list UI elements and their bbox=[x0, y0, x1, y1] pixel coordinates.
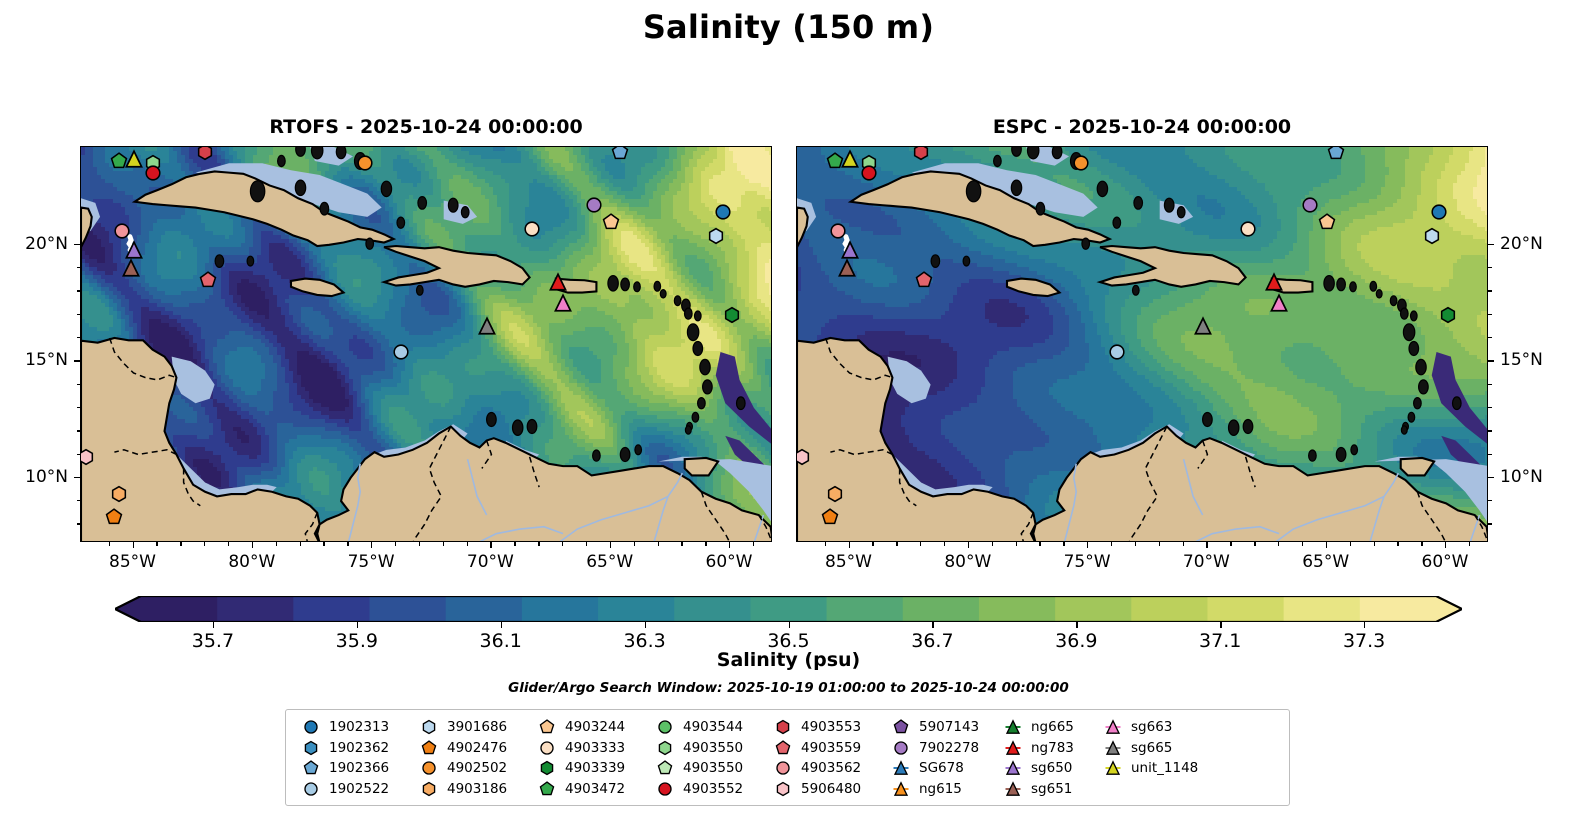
xtick bbox=[1445, 542, 1446, 548]
legend-item-label: 4903472 bbox=[564, 781, 625, 797]
xtick bbox=[1087, 542, 1088, 548]
xtick bbox=[1206, 542, 1207, 548]
legend-item-4903550[interactable]: 4903550 bbox=[648, 738, 766, 759]
glider-track-marker-icon bbox=[1096, 758, 1130, 778]
ytick bbox=[74, 360, 80, 361]
map-marker-1902522[interactable] bbox=[1108, 344, 1125, 361]
argo-float-marker-icon bbox=[530, 717, 564, 737]
argo-float-marker-icon bbox=[884, 717, 918, 737]
argo-float-marker-icon bbox=[884, 738, 918, 758]
argo-float-marker-icon bbox=[530, 779, 564, 799]
ytick-minor bbox=[1488, 523, 1492, 524]
colorbar-tick bbox=[1076, 622, 1077, 628]
map-marker-4903559[interactable] bbox=[199, 271, 216, 288]
xtick bbox=[729, 542, 730, 548]
map-marker-ng783[interactable] bbox=[1265, 273, 1284, 292]
legend-item-5907143[interactable]: 5907143 bbox=[884, 717, 996, 738]
legend-item-label: 7902278 bbox=[918, 740, 979, 756]
legend-item-sg651[interactable]: sg651 bbox=[996, 779, 1096, 800]
argo-float-marker-icon bbox=[412, 779, 446, 799]
legend-item-label: SG678 bbox=[918, 760, 964, 776]
legend-item-label: sg665 bbox=[1130, 740, 1172, 756]
legend-item-label: 3901686 bbox=[446, 719, 507, 735]
ytick-minor bbox=[1488, 500, 1492, 501]
legend-item-4903472[interactable]: 4903472 bbox=[530, 779, 648, 800]
legend-item-5906480[interactable]: 5906480 bbox=[766, 779, 884, 800]
map-marker-unit_1148[interactable] bbox=[124, 149, 143, 168]
ytick-minor bbox=[77, 500, 81, 501]
map-marker-unit_1148[interactable] bbox=[840, 149, 859, 168]
argo-float-marker-icon bbox=[530, 758, 564, 778]
map-marker-4902502[interactable] bbox=[1073, 155, 1090, 172]
ytick-minor bbox=[77, 314, 81, 315]
legend-item-label: 5906480 bbox=[800, 781, 861, 797]
legend-item-1902522[interactable]: 1902522 bbox=[294, 779, 412, 800]
xtick-minor bbox=[634, 542, 635, 546]
map-marker-sg650[interactable] bbox=[840, 240, 859, 259]
legend-item-label: sg651 bbox=[1030, 781, 1072, 797]
xtick-label: 70°W bbox=[1183, 552, 1230, 572]
map-marker-4903553[interactable] bbox=[913, 146, 930, 160]
ytick-minor bbox=[77, 337, 81, 338]
argo-float-marker-icon bbox=[294, 717, 328, 737]
map-marker-4903339[interactable] bbox=[724, 306, 741, 323]
glider-track-marker-icon bbox=[996, 758, 1030, 778]
ytick-label: 10°N bbox=[1500, 467, 1543, 487]
xtick bbox=[968, 542, 969, 548]
argo-float-marker-icon bbox=[648, 758, 682, 778]
xtick bbox=[1326, 542, 1327, 548]
xtick-label: 65°W bbox=[1302, 552, 1349, 572]
argo-float-marker-icon bbox=[294, 738, 328, 758]
xtick-minor bbox=[1063, 542, 1064, 546]
xtick-minor bbox=[753, 542, 754, 546]
ytick-minor bbox=[1488, 384, 1492, 385]
xtick-minor bbox=[514, 542, 515, 546]
map-marker-4903244[interactable] bbox=[1318, 213, 1335, 230]
xtick-minor bbox=[276, 542, 277, 546]
xtick-label: 80°W bbox=[944, 552, 991, 572]
argo-float-marker-icon bbox=[766, 779, 800, 799]
map-marker-4903559[interactable] bbox=[915, 271, 932, 288]
xtick-minor bbox=[538, 542, 539, 546]
legend-item-label: 4903333 bbox=[564, 740, 625, 756]
legend-item-7902278[interactable]: 7902278 bbox=[884, 738, 996, 759]
ytick-minor bbox=[77, 523, 81, 524]
glider-track-marker-icon bbox=[996, 779, 1030, 799]
legend-item-unit_1148[interactable]: unit_1148 bbox=[1096, 758, 1206, 779]
legend-item-label: 4903186 bbox=[446, 781, 507, 797]
legend-item-label: 1902522 bbox=[328, 781, 389, 797]
legend-item-label: 4902502 bbox=[446, 760, 507, 776]
map-marker-5906480[interactable] bbox=[796, 448, 810, 465]
legend-column-7: ng665ng783sg650sg651 bbox=[996, 717, 1096, 799]
xtick-label: 75°W bbox=[1064, 552, 1111, 572]
map-marker-1902313[interactable] bbox=[714, 204, 731, 221]
legend-item-label: 4903544 bbox=[682, 719, 743, 735]
map-marker-3901686[interactable] bbox=[1423, 227, 1440, 244]
map-marker-ng783[interactable] bbox=[549, 273, 568, 292]
map-marker-4903552[interactable] bbox=[860, 164, 877, 181]
legend-item-4903244[interactable]: 4903244 bbox=[530, 717, 648, 738]
map-marker-4902476[interactable] bbox=[106, 509, 123, 526]
xtick-minor bbox=[1350, 542, 1351, 546]
xtick-label: 70°W bbox=[467, 552, 514, 572]
ytick-minor bbox=[1488, 267, 1492, 268]
xtick-minor bbox=[443, 542, 444, 546]
legend-item-label: 4903562 bbox=[800, 760, 861, 776]
legend-item-label: 4903552 bbox=[682, 781, 743, 797]
map-marker-sg663[interactable] bbox=[1270, 294, 1289, 313]
xtick bbox=[610, 542, 611, 548]
legend-item-label: unit_1148 bbox=[1130, 760, 1198, 776]
colorbar-tick bbox=[645, 622, 646, 628]
legend-item-label: sg650 bbox=[1030, 760, 1072, 776]
xtick-minor bbox=[1039, 542, 1040, 546]
map-marker-4902502[interactable] bbox=[357, 155, 374, 172]
legend-item-4903559[interactable]: 4903559 bbox=[766, 738, 884, 759]
map-marker-sg665[interactable] bbox=[477, 317, 496, 336]
legend-item-4903544[interactable]: 4903544 bbox=[648, 717, 766, 738]
legend-item-label: 4903550 bbox=[682, 740, 743, 756]
xtick-minor bbox=[1421, 542, 1422, 546]
xtick-minor bbox=[1469, 542, 1470, 546]
legend-column-3: 4903244490333349033394903472 bbox=[530, 717, 648, 799]
legend-item-1902313[interactable]: 1902313 bbox=[294, 717, 412, 738]
ytick bbox=[74, 244, 80, 245]
legend-item-4903550[interactable]: 4903550 bbox=[648, 758, 766, 779]
ytick-label: 10°N bbox=[25, 467, 68, 487]
colorbar-tick bbox=[789, 622, 790, 628]
map-marker-4903562[interactable] bbox=[829, 222, 846, 239]
glider-track-marker-icon bbox=[884, 779, 918, 799]
xtick-label: 75°W bbox=[348, 552, 395, 572]
legend-item-label: ng615 bbox=[918, 781, 962, 797]
xtick-minor bbox=[156, 542, 157, 546]
legend-item-4902502[interactable]: 4902502 bbox=[412, 758, 530, 779]
legend-item-label: 5907143 bbox=[918, 719, 979, 735]
map-marker-4903186[interactable] bbox=[827, 486, 844, 503]
xtick-minor bbox=[681, 542, 682, 546]
xtick-label: 80°W bbox=[228, 552, 275, 572]
xtick-minor bbox=[586, 542, 587, 546]
xtick-minor bbox=[1374, 542, 1375, 546]
ytick-minor bbox=[1488, 337, 1492, 338]
colorbar-tick bbox=[1220, 622, 1221, 628]
xtick-minor bbox=[395, 542, 396, 546]
map-marker-1902522[interactable] bbox=[392, 344, 409, 361]
argo-float-marker-icon bbox=[766, 758, 800, 778]
colorbar-tick bbox=[1364, 622, 1365, 628]
ytick-minor bbox=[1488, 314, 1492, 315]
legend-item-1902366[interactable]: 1902366 bbox=[294, 758, 412, 779]
xtick-minor bbox=[1230, 542, 1231, 546]
legend-item-4903333[interactable]: 4903333 bbox=[530, 738, 648, 759]
ytick-minor bbox=[1488, 430, 1492, 431]
legend-column-5: 4903553490355949035625906480 bbox=[766, 717, 884, 799]
xtick-minor bbox=[1397, 542, 1398, 546]
legend-item-label: ng665 bbox=[1030, 719, 1074, 735]
legend-item-4902476[interactable]: 4902476 bbox=[412, 738, 530, 759]
xtick-label: 65°W bbox=[586, 552, 633, 572]
xtick-minor bbox=[1254, 542, 1255, 546]
legend-item-label: 1902313 bbox=[328, 719, 389, 735]
map-marker-sg663[interactable] bbox=[554, 294, 573, 313]
legend-item-4903552[interactable]: 4903552 bbox=[648, 779, 766, 800]
legend-item-ng615[interactable]: ng615 bbox=[884, 779, 996, 800]
ytick-minor bbox=[1488, 407, 1492, 408]
map-marker-4902476[interactable] bbox=[822, 509, 839, 526]
legend-column-8: sg663sg665unit_1148 bbox=[1096, 717, 1206, 799]
xtick-label: 60°W bbox=[1422, 552, 1469, 572]
legend-item-label: 4903553 bbox=[800, 719, 861, 735]
xtick-label: 60°W bbox=[706, 552, 753, 572]
xtick-minor bbox=[228, 542, 229, 546]
map-marker-4903186[interactable] bbox=[111, 486, 128, 503]
map-canvas-espc[interactable] bbox=[796, 146, 1488, 542]
legend-item-label: 4903550 bbox=[682, 760, 743, 776]
ytick bbox=[1488, 244, 1494, 245]
colorbar-tick bbox=[357, 622, 358, 628]
legend-item-label: 4903559 bbox=[800, 740, 861, 756]
map-marker-sg650[interactable] bbox=[124, 240, 143, 259]
xtick-minor bbox=[1183, 542, 1184, 546]
argo-float-marker-icon bbox=[412, 758, 446, 778]
map-marker-4903333[interactable] bbox=[1240, 220, 1257, 237]
xtick-minor bbox=[419, 542, 420, 546]
legend-item-1902362[interactable]: 1902362 bbox=[294, 738, 412, 759]
xtick-minor bbox=[204, 542, 205, 546]
map-marker-sg665[interactable] bbox=[1193, 317, 1212, 336]
ytick-minor bbox=[77, 267, 81, 268]
glider-track-marker-icon bbox=[884, 758, 918, 778]
argo-float-marker-icon bbox=[648, 717, 682, 737]
map-marker-1902366[interactable] bbox=[612, 146, 629, 160]
legend-item-label: 1902366 bbox=[328, 760, 389, 776]
legend-item-4903562[interactable]: 4903562 bbox=[766, 758, 884, 779]
xtick-minor bbox=[1111, 542, 1112, 546]
xtick-minor bbox=[1278, 542, 1279, 546]
map-marker-4903339[interactable] bbox=[1440, 306, 1457, 323]
panel-title-rtofs: RTOFS - 2025-10-24 00:00:00 bbox=[80, 116, 772, 138]
map-marker-7902278[interactable] bbox=[1302, 197, 1319, 214]
ytick-minor bbox=[77, 430, 81, 431]
argo-float-marker-icon bbox=[294, 779, 328, 799]
argo-float-marker-icon bbox=[412, 738, 446, 758]
map-marker-3901686[interactable] bbox=[707, 227, 724, 244]
xtick-minor bbox=[992, 542, 993, 546]
ytick-minor bbox=[77, 290, 81, 291]
argo-float-marker-icon bbox=[530, 738, 564, 758]
legend-column-1: 1902313190236219023661902522 bbox=[294, 717, 412, 799]
ytick-minor bbox=[77, 384, 81, 385]
xtick-minor bbox=[1016, 542, 1017, 546]
xtick bbox=[371, 542, 372, 548]
xtick-minor bbox=[180, 542, 181, 546]
argo-float-marker-icon bbox=[294, 758, 328, 778]
glider-track-marker-icon bbox=[1096, 738, 1130, 758]
ytick-label: 20°N bbox=[1500, 234, 1543, 254]
argo-float-marker-icon bbox=[766, 717, 800, 737]
argo-float-marker-icon bbox=[766, 738, 800, 758]
map-marker-4903244[interactable] bbox=[602, 213, 619, 230]
map-panel-rtofs: RTOFS - 2025-10-24 00:00:00 85°W80°W75°W… bbox=[80, 146, 772, 542]
ytick-minor bbox=[1488, 454, 1492, 455]
map-marker-5906480[interactable] bbox=[80, 448, 94, 465]
xtick-minor bbox=[825, 542, 826, 546]
legend-item-sg665[interactable]: sg665 bbox=[1096, 738, 1206, 759]
legend-item-sg663[interactable]: sg663 bbox=[1096, 717, 1206, 738]
legend-column-6: 59071437902278SG678ng615 bbox=[884, 717, 996, 799]
ytick bbox=[1488, 477, 1494, 478]
glider-track-marker-icon bbox=[1096, 717, 1130, 737]
map-marker-4903552[interactable] bbox=[144, 164, 161, 181]
legend-column-2: 3901686490247649025024903186 bbox=[412, 717, 530, 799]
map-panel-espc: ESPC - 2025-10-24 00:00:00 85°W80°W75°W7… bbox=[796, 146, 1488, 542]
ytick-minor bbox=[77, 454, 81, 455]
ytick-minor bbox=[1488, 290, 1492, 291]
legend-item-label: 4903339 bbox=[564, 760, 625, 776]
xtick-minor bbox=[1302, 542, 1303, 546]
xtick-minor bbox=[705, 542, 706, 546]
xtick-label: 85°W bbox=[825, 552, 872, 572]
xtick-minor bbox=[658, 542, 659, 546]
legend-item-SG678[interactable]: SG678 bbox=[884, 758, 996, 779]
legend-item-4903186[interactable]: 4903186 bbox=[412, 779, 530, 800]
legend-item-label: 1902362 bbox=[328, 740, 389, 756]
argo-float-marker-icon bbox=[648, 779, 682, 799]
xtick bbox=[849, 542, 850, 548]
legend-item-4903553[interactable]: 4903553 bbox=[766, 717, 884, 738]
xtick bbox=[490, 542, 491, 548]
ytick bbox=[74, 477, 80, 478]
map-marker-4903553[interactable] bbox=[197, 146, 214, 160]
xtick-minor bbox=[1159, 542, 1160, 546]
xtick-minor bbox=[347, 542, 348, 546]
map-canvas-rtofs[interactable] bbox=[80, 146, 772, 542]
argo-float-marker-icon bbox=[648, 738, 682, 758]
ytick-minor bbox=[77, 407, 81, 408]
colorbar-tick bbox=[213, 622, 214, 628]
panel-title-espc: ESPC - 2025-10-24 00:00:00 bbox=[796, 116, 1488, 138]
glider-track-marker-icon bbox=[996, 717, 1030, 737]
xtick-minor bbox=[562, 542, 563, 546]
legend-item-ng665[interactable]: ng665 bbox=[996, 717, 1096, 738]
legend-item-label: 4902476 bbox=[446, 740, 507, 756]
map-marker-sg651[interactable] bbox=[122, 259, 141, 278]
legend-item-label: 4903244 bbox=[564, 719, 625, 735]
xtick-minor bbox=[1135, 542, 1136, 546]
search-window-caption: Glider/Argo Search Window: 2025-10-19 01… bbox=[0, 680, 1577, 696]
legend-item-label: ng783 bbox=[1030, 740, 1074, 756]
map-marker-1902366[interactable] bbox=[1328, 146, 1345, 160]
ytick-label: 15°N bbox=[25, 350, 68, 370]
legend-item-4903339[interactable]: 4903339 bbox=[530, 758, 648, 779]
map-marker-4903333[interactable] bbox=[524, 220, 541, 237]
map-marker-sg651[interactable] bbox=[838, 259, 857, 278]
colorbar-label: Salinity (psu) bbox=[0, 649, 1577, 671]
ytick-label: 20°N bbox=[25, 234, 68, 254]
platform-legend: 1902313190236219023661902522390168649024… bbox=[285, 709, 1290, 806]
colorbar-ticks: 35.735.936.136.336.536.736.937.137.3 bbox=[115, 596, 1462, 640]
legend-item-ng783[interactable]: ng783 bbox=[996, 738, 1096, 759]
argo-float-marker-icon bbox=[412, 717, 446, 737]
ytick bbox=[1488, 360, 1494, 361]
xtick-minor bbox=[872, 542, 873, 546]
xtick-minor bbox=[300, 542, 301, 546]
xtick-label: 85°W bbox=[109, 552, 156, 572]
page-title: Salinity (150 m) bbox=[0, 8, 1577, 46]
legend-item-sg650[interactable]: sg650 bbox=[996, 758, 1096, 779]
map-marker-7902278[interactable] bbox=[586, 197, 603, 214]
glider-track-marker-icon bbox=[996, 738, 1030, 758]
xtick-minor bbox=[944, 542, 945, 546]
map-marker-1902313[interactable] bbox=[1430, 204, 1447, 221]
xtick-minor bbox=[109, 542, 110, 546]
xtick-minor bbox=[920, 542, 921, 546]
map-marker-4903562[interactable] bbox=[113, 222, 130, 239]
legend-column-4: 4903544490355049035504903552 bbox=[648, 717, 766, 799]
colorbar-tick bbox=[501, 622, 502, 628]
xtick bbox=[133, 542, 134, 548]
legend-item-3901686[interactable]: 3901686 bbox=[412, 717, 530, 738]
xtick bbox=[252, 542, 253, 548]
colorbar-tick bbox=[932, 622, 933, 628]
ytick-label: 15°N bbox=[1500, 350, 1543, 370]
legend-item-label: sg663 bbox=[1130, 719, 1172, 735]
xtick-minor bbox=[896, 542, 897, 546]
xtick-minor bbox=[467, 542, 468, 546]
xtick-minor bbox=[323, 542, 324, 546]
